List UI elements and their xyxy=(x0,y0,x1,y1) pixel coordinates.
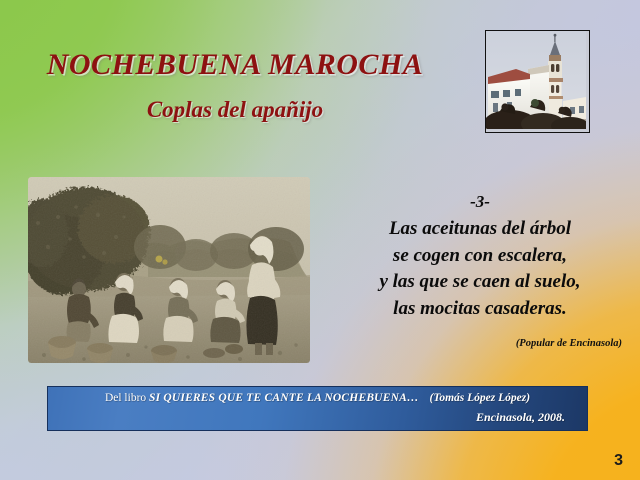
olive-harvesters-photo-image xyxy=(28,177,310,363)
poem-line-4: las mocitas casaderas. xyxy=(330,296,630,323)
citation-prefix: Del libro xyxy=(105,392,146,404)
poem-stanza-number: -3- xyxy=(330,192,630,212)
slide-subtitle: Coplas del apañijo xyxy=(0,97,470,123)
poem-line-1: Las aceitunas del árbol xyxy=(330,216,630,243)
citation-author: (Tomás López López) xyxy=(430,392,531,404)
church-photo xyxy=(485,30,590,133)
citation-book-title: SI QUIERES QUE TE CANTE LA NOCHEBUENA… xyxy=(149,392,419,404)
poem-line-3: y las que se caen al suelo, xyxy=(330,269,630,296)
poem-source-attribution: (Popular de Encinasola) xyxy=(330,338,622,349)
church-photo-image xyxy=(486,31,586,129)
citation-place-year: Encinasola, 2008. xyxy=(62,410,573,425)
page-number: 3 xyxy=(614,452,623,470)
poem-line-2: se cogen con escalera, xyxy=(330,243,630,270)
citation-banner-line-1: Del libro SI QUIERES QUE TE CANTE LA NOC… xyxy=(62,392,573,404)
poem-block: -3- Las aceitunas del árbol se cogen con… xyxy=(330,192,630,323)
olive-harvesters-photo xyxy=(28,177,310,363)
citation-banner: Del libro SI QUIERES QUE TE CANTE LA NOC… xyxy=(47,386,588,431)
slide-title: NOCHEBUENA MAROCHA xyxy=(0,48,470,82)
presentation-slide: NOCHEBUENA MAROCHA Coplas del apañijo xyxy=(0,0,640,480)
